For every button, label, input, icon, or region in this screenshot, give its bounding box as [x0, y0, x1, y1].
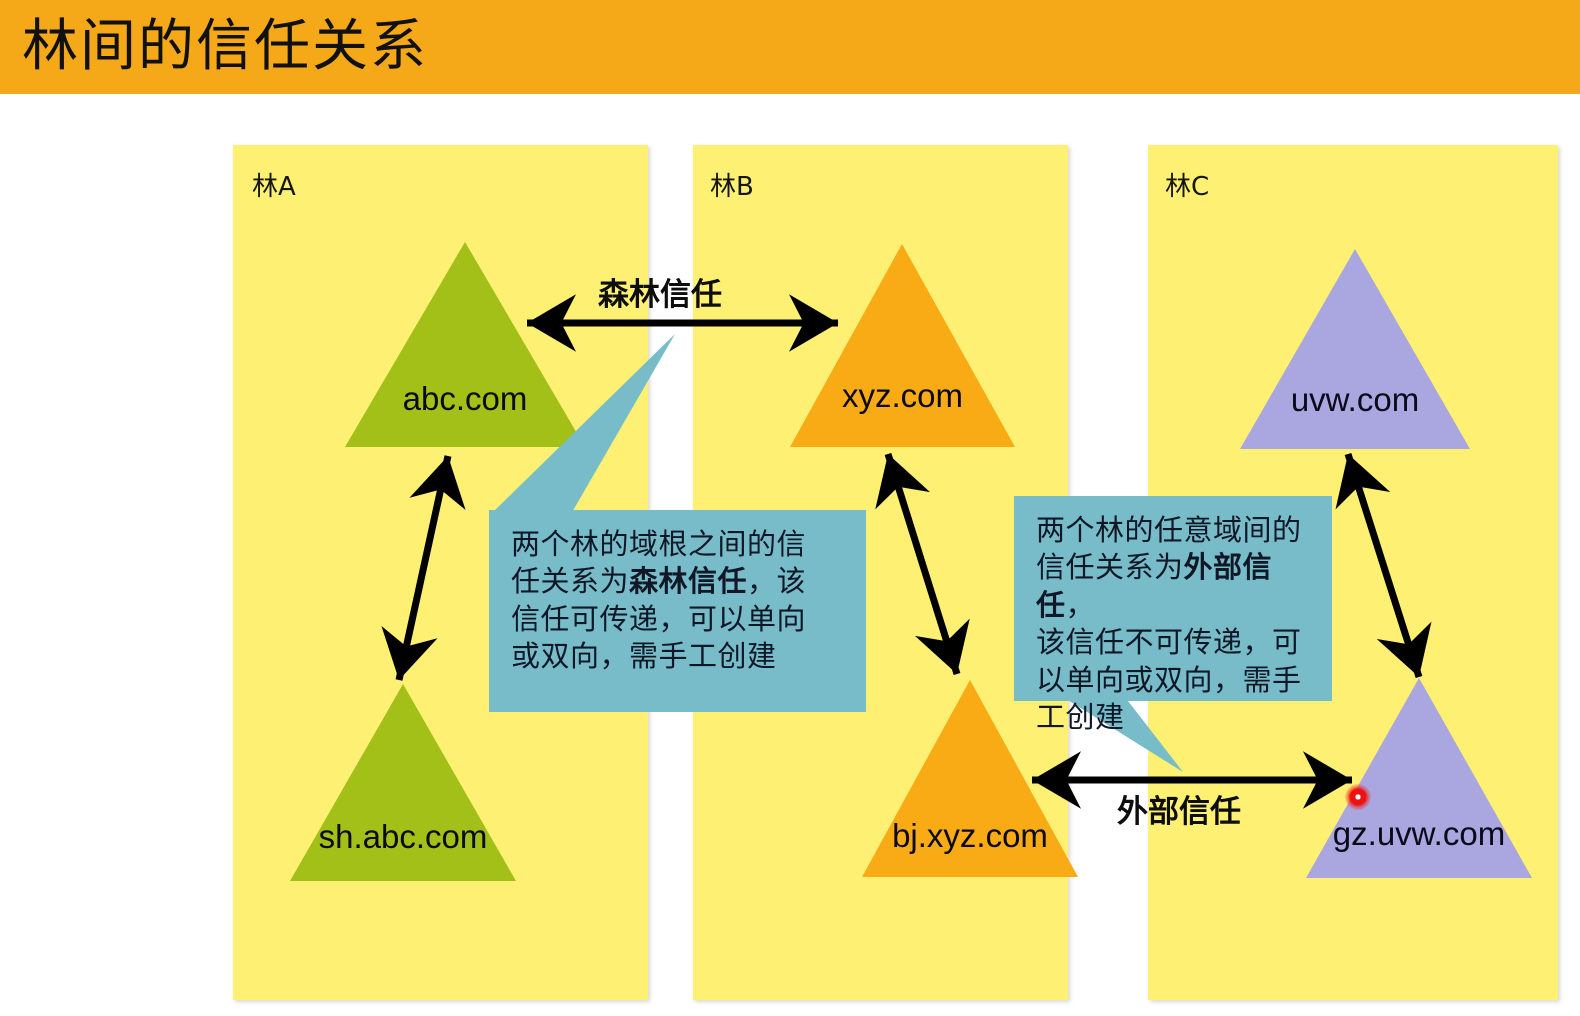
callout-text: ，	[1066, 588, 1096, 622]
arrow-label-external-trust: 外部信任	[1117, 786, 1241, 831]
callout-text: 工创建	[1036, 700, 1125, 734]
forest-trust-callout-tail	[487, 334, 687, 514]
callout-text: 信任可传递，可以单向	[511, 602, 806, 636]
domain-triangle-uvw-com[interactable]: uvw.com	[1240, 249, 1470, 449]
callout-line: 信任关系为外部信任，	[1036, 549, 1312, 624]
arrow-label-forest-trust: 森林信任	[598, 269, 722, 314]
callout-text: 信任关系为	[1036, 550, 1184, 584]
domain-triangle-xyz-com[interactable]: xyz.com	[790, 244, 1015, 447]
diagram-canvas: 林A 林B 林C abc.com sh.abc.com xyz.com bj.x…	[0, 94, 1580, 1016]
callout-line: 任关系为森林信任，该	[511, 563, 846, 600]
callout-text: 以单向或双向，需手	[1036, 663, 1302, 697]
external-trust-callout: 两个林的任意域间的信任关系为外部信任，该信任不可传递，可以单向或双向，需手工创建	[1014, 496, 1332, 701]
forest-label-c: 林C	[1165, 166, 1209, 203]
callout-text: 任关系为	[511, 564, 629, 598]
forest-trust-callout: 两个林的域根之间的信任关系为森林信任，该信任可传递，可以单向或双向，需手工创建	[489, 510, 866, 712]
callout-text: ，该	[747, 564, 806, 598]
forest-label-b: 林B	[710, 166, 754, 203]
callout-line: 工创建	[1036, 699, 1312, 736]
callout-line: 或双向，需手工创建	[511, 638, 846, 675]
callout-text: 或双向，需手工创建	[511, 639, 777, 673]
callout-text: 两个林的域根之间的信	[511, 527, 806, 561]
callout-text: 该信任不可传递，可	[1036, 625, 1302, 659]
forest-label-a: 林A	[252, 166, 296, 203]
callout-text: 两个林的任意域间的	[1036, 513, 1302, 547]
callout-line: 信任可传递，可以单向	[511, 601, 846, 638]
callout-line: 该信任不可传递，可	[1036, 624, 1312, 661]
domain-triangle-gz-uvw-com[interactable]: gz.uvw.com	[1306, 678, 1532, 878]
page-title: 林间的信任关系	[22, 3, 428, 91]
callout-emphasis: 森林信任	[629, 564, 747, 598]
callout-line: 两个林的任意域间的	[1036, 512, 1312, 549]
cursor-click-marker	[1345, 784, 1371, 810]
callout-line: 两个林的域根之间的信	[511, 526, 846, 563]
callout-line: 以单向或双向，需手	[1036, 662, 1312, 699]
domain-triangle-sh-abc-com[interactable]: sh.abc.com	[290, 684, 516, 881]
title-banner: 林间的信任关系	[0, 0, 1580, 94]
